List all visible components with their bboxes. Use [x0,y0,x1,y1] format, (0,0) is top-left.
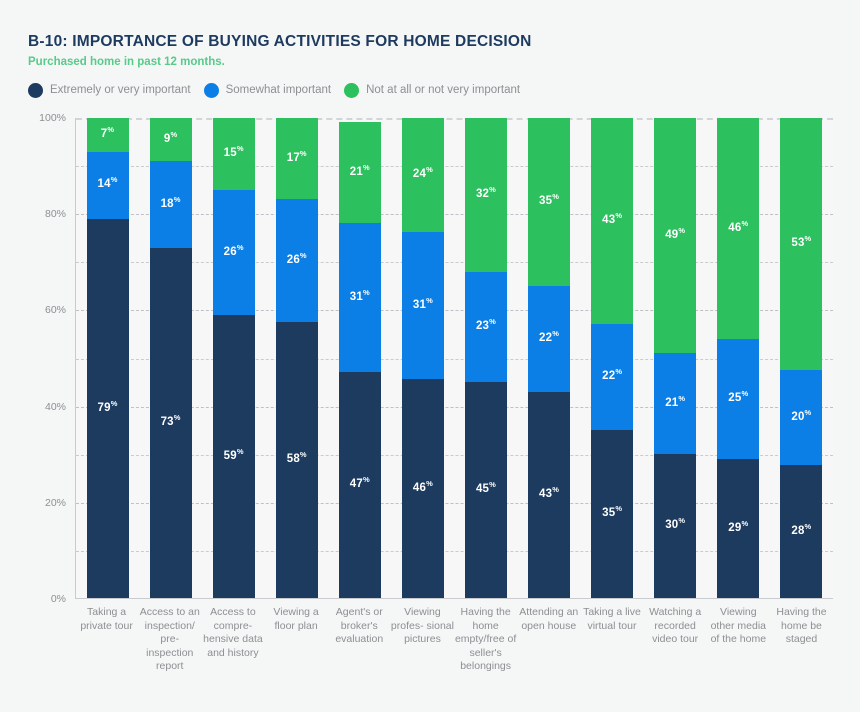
x-axis-tick-label: Viewing profes- sional pictures [391,606,454,647]
bar-segment[interactable]: 17% [276,118,318,199]
plot-area: 7%14%79%9%18%73%15%26%59%17%26%58%21%31%… [75,118,833,599]
bar-segment[interactable]: 21% [654,353,696,454]
bar-segment-value-label: 47% [350,479,370,491]
bar-segment[interactable]: 7% [87,118,129,152]
x-axis-tick-label: Access to compre- hensive data and histo… [201,606,264,660]
bar-segment[interactable]: 31% [402,232,444,379]
bar-segment[interactable]: 49% [654,118,696,353]
circle-dot-icon [204,83,219,98]
bar-segment[interactable]: 53% [780,118,822,370]
bar-segment-value-label: 46% [728,223,748,235]
x-axis-tick-label: Taking a live virtual tour [580,606,643,633]
x-axis-tick-label: Having the home be staged [770,606,833,647]
circle-dot-icon [344,83,359,98]
x-axis-tick-label: Taking a private tour [75,606,138,633]
bar-column[interactable]: 49%21%30% [654,118,696,598]
bar-column[interactable]: 46%25%29% [717,118,759,598]
legend-item-label: Extremely or very important [50,84,191,96]
bar-column[interactable]: 21%31%47% [339,118,381,598]
bar-segment[interactable]: 28% [780,465,822,598]
bar-segment-value-label: 31% [350,292,370,304]
bar-segment[interactable]: 35% [591,430,633,598]
bar-segment-value-label: 32% [476,189,496,201]
bar-segment[interactable]: 43% [528,392,570,598]
bar-column[interactable]: 17%26%58% [276,118,318,598]
bar-column[interactable]: 53%20%28% [780,118,822,598]
bar-segment[interactable]: 22% [528,286,570,392]
bar-segment-value-label: 53% [791,238,811,250]
bar-segment[interactable]: 46% [717,118,759,339]
bar-segment-value-label: 31% [413,300,433,312]
bar-segment[interactable]: 18% [150,161,192,247]
x-axis-tick-label: Viewing other media of the home [707,606,770,647]
bar-segment[interactable]: 14% [87,152,129,219]
bar-segment-value-label: 22% [602,371,622,383]
bar-segment-value-label: 24% [413,169,433,181]
legend-item-label: Not at all or not very important [366,84,520,96]
bar-segment[interactable]: 32% [465,118,507,272]
y-axis-tick-label: 80% [0,208,66,220]
bar-segment-value-label: 15% [224,148,244,160]
bar-segment-value-label: 49% [665,230,685,242]
bar-segment-value-label: 26% [287,255,307,267]
bar-segment-value-label: 79% [97,403,117,415]
bar-segment[interactable]: 26% [213,190,255,315]
bar-segment-value-label: 7% [101,129,114,141]
bar-segment-value-label: 58% [287,454,307,466]
bar-segment-value-label: 25% [728,393,748,405]
legend-item[interactable]: Somewhat important [204,83,331,98]
legend-item-label: Somewhat important [226,84,331,96]
x-axis-tick-label: Agent's or broker's evaluation [328,606,391,647]
bar-segment[interactable]: 59% [213,315,255,598]
bar-segment-value-label: 14% [97,179,117,191]
bar-segment[interactable]: 46% [402,379,444,598]
bar-segment-value-label: 22% [539,333,559,345]
y-axis-tick-label: 20% [0,497,66,509]
x-axis-tick-label: Having the home empty/free of seller's b… [454,606,517,674]
legend-item[interactable]: Not at all or not very important [344,83,520,98]
chart-legend: Extremely or very importantSomewhat impo… [28,80,520,100]
bar-segment[interactable]: 73% [150,248,192,598]
bar-segment-value-label: 18% [161,199,181,211]
bar-segment[interactable]: 9% [150,118,192,161]
bar-segment[interactable]: 47% [339,372,381,598]
y-axis: 0%20%40%60%80%100% [0,112,66,605]
y-axis-tick-label: 60% [0,304,66,316]
bar-segment[interactable]: 24% [402,118,444,232]
bar-segment-value-label: 26% [224,247,244,259]
x-axis: Taking a private tourAccess to an inspec… [75,606,833,674]
bar-segment-value-label: 45% [476,484,496,496]
bar-segment-value-label: 43% [539,489,559,501]
bar-segment[interactable]: 23% [465,272,507,382]
bar-segment[interactable]: 25% [717,339,759,459]
x-axis-tick-label: Attending an open house [517,606,580,633]
x-axis-tick-label: Access to an inspection/ pre-inspection … [138,606,201,674]
bar-segment[interactable]: 58% [276,322,318,598]
bar-segment-value-label: 20% [791,412,811,424]
page-subtitle: Purchased home in past 12 months. [28,56,225,68]
bar-column[interactable]: 15%26%59% [213,118,255,598]
bar-segment[interactable]: 43% [591,118,633,324]
legend-item[interactable]: Extremely or very important [28,83,191,98]
bar-column[interactable]: 43%22%35% [591,118,633,598]
x-axis-tick-label: Watching a recorded video tour [644,606,707,647]
bar-segment[interactable]: 20% [780,370,822,465]
bar-column[interactable]: 24%31%46% [402,118,444,598]
bars-layer: 7%14%79%9%18%73%15%26%59%17%26%58%21%31%… [76,118,833,598]
bar-segment[interactable]: 79% [87,219,129,598]
bar-segment-value-label: 73% [161,417,181,429]
bar-segment-value-label: 30% [665,520,685,532]
bar-segment-value-label: 9% [164,134,177,146]
y-axis-tick-label: 0% [0,593,66,605]
bar-segment-value-label: 17% [287,153,307,165]
bar-segment[interactable]: 45% [465,382,507,598]
bar-column[interactable]: 7%14%79% [87,118,129,598]
bar-segment[interactable]: 30% [654,454,696,598]
x-axis-tick-label: Viewing a floor plan [265,606,328,633]
bar-segment[interactable]: 26% [276,199,318,323]
page-title: B-10: IMPORTANCE OF BUYING ACTIVITIES FO… [28,33,532,51]
bar-segment-value-label: 59% [224,451,244,463]
y-axis-tick-label: 40% [0,401,66,413]
bar-segment-value-label: 35% [539,196,559,208]
bar-column[interactable]: 35%22%43% [528,118,570,598]
bar-segment-value-label: 35% [602,508,622,520]
chart-page: B-10: IMPORTANCE OF BUYING ACTIVITIES FO… [0,0,860,712]
bar-segment[interactable]: 22% [591,324,633,430]
y-axis-tick-label: 100% [0,112,66,124]
bar-segment-value-label: 21% [350,167,370,179]
bar-segment-value-label: 43% [602,215,622,227]
circle-dot-icon [28,83,43,98]
bar-segment[interactable]: 21% [339,122,381,223]
bar-segment-value-label: 46% [413,483,433,495]
bar-segment-value-label: 29% [728,523,748,535]
bar-segment-value-label: 28% [791,526,811,538]
bar-segment[interactable]: 15% [213,118,255,190]
bar-column[interactable]: 9%18%73% [150,118,192,598]
bar-segment[interactable]: 29% [717,459,759,598]
bar-segment-value-label: 21% [665,398,685,410]
bar-column[interactable]: 32%23%45% [465,118,507,598]
bar-segment[interactable]: 35% [528,118,570,286]
bar-segment[interactable]: 31% [339,223,381,372]
bar-segment-value-label: 23% [476,321,496,333]
